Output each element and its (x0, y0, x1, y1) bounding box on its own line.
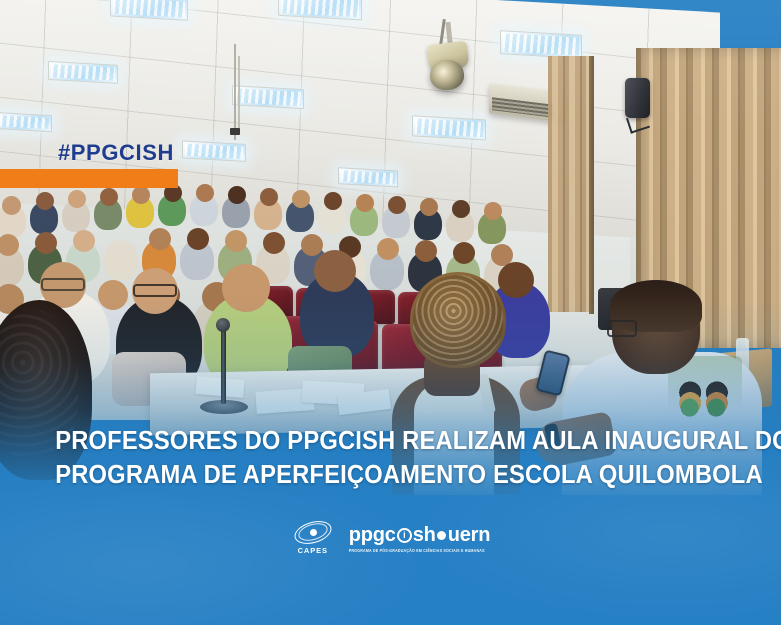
ceiling-light-panel (0, 112, 52, 132)
audience-head (111, 228, 133, 250)
audience-head (222, 264, 270, 312)
capes-label: CAPES (291, 546, 335, 555)
audience-head (356, 194, 374, 212)
audience-head (149, 228, 171, 250)
ceiling-light-panel (232, 85, 304, 109)
audience-head (377, 238, 399, 260)
audience-head (35, 232, 57, 254)
ppgcish-uern-logo: ppgc i sh uern PROGRAMA DE PÓS-GRADUAÇÃO… (349, 523, 490, 553)
ceiling-drop-rod (234, 44, 236, 140)
ppgcish-wordmark: ppgc i sh uern (349, 525, 490, 545)
audience-head (498, 262, 534, 298)
microphone-stem (221, 326, 226, 404)
audience-head (415, 240, 437, 262)
wordmark-part-3: uern (448, 525, 491, 545)
eyeglasses (41, 278, 85, 291)
audience-head (73, 230, 95, 252)
audience-head (314, 250, 356, 292)
audience-head (260, 188, 278, 206)
audience-head (292, 190, 310, 208)
eyeglasses (607, 320, 637, 337)
capes-nucleus-icon (310, 529, 317, 536)
eye-icon: i (397, 528, 412, 543)
audience-head (484, 202, 502, 220)
microphone-head (216, 318, 230, 332)
ceiling-drop-fixture (230, 128, 240, 135)
audience-head (263, 232, 285, 254)
blue-footer-band (0, 495, 781, 625)
ceiling-light-panel (500, 30, 582, 59)
ceiling-light-panel (338, 167, 398, 187)
audience-head (187, 228, 209, 250)
ceiling-light-panel (48, 61, 118, 84)
folding-partition-wall (548, 56, 590, 312)
audience-head (228, 186, 246, 204)
bullet-dot-icon (437, 531, 446, 540)
audience-head (132, 186, 150, 204)
audience-head (36, 192, 54, 210)
hashtag-label: #PPGCISH (0, 140, 178, 166)
audience-head (452, 200, 470, 218)
footer-logo-row: CAPES ppgc i sh uern PROGRAMA DE PÓS-GRA… (0, 521, 781, 555)
capes-logo: CAPES (291, 521, 335, 555)
audience-head (2, 196, 21, 215)
audience-head (100, 188, 118, 206)
headline-line-2: PROGRAMA DE APERFEIÇOAMENTO ESCOLA QUILO… (55, 458, 726, 492)
audience-head (68, 190, 86, 208)
ceiling-light-panel (182, 140, 246, 162)
audience-head (301, 234, 323, 256)
partition-edge (589, 56, 594, 314)
wordmark-part-2: sh (413, 525, 436, 545)
announcement-card: #PPGCISH PROFESSORES DO PPGCISH REALIZAM… (0, 0, 781, 625)
audience-head (420, 198, 438, 216)
audience-head (225, 230, 247, 252)
audience-head (196, 184, 214, 202)
audience-head (98, 280, 128, 310)
eyeglasses (133, 284, 177, 297)
orange-accent-bar (0, 169, 178, 188)
ppgcish-tagline: PROGRAMA DE PÓS-GRADUAÇÃO EM CIÊNCIAS SO… (349, 547, 490, 555)
audience-head (324, 192, 342, 210)
wordmark-part-1: ppgc (349, 525, 396, 545)
headline-line-1: PROFESSORES DO PPGCISH REALIZAM AULA INA… (55, 424, 726, 458)
ceiling-drop-rod (238, 56, 240, 130)
foreground-woman-hair (410, 272, 506, 368)
hashtag-badge: #PPGCISH (0, 140, 178, 188)
ceiling-light-panel (412, 115, 486, 140)
audience-head (453, 242, 475, 264)
audience-head (388, 196, 406, 214)
wall-speaker (625, 78, 650, 118)
page-title: PROFESSORES DO PPGCISH REALIZAM AULA INA… (0, 424, 781, 492)
